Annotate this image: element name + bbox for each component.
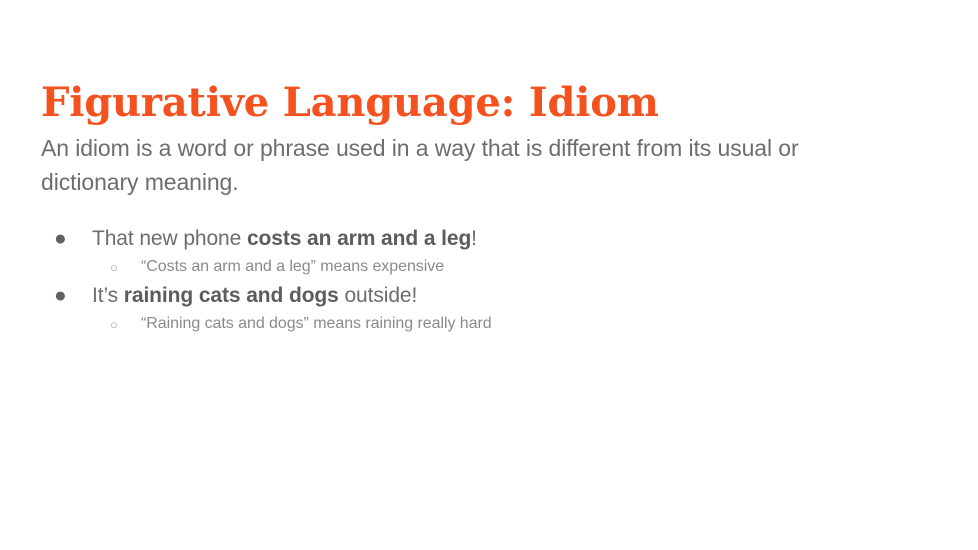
list-item: ● That new phone costs an arm and a leg!… bbox=[41, 223, 871, 280]
bullet-suffix: outside! bbox=[339, 284, 418, 307]
hollow-bullet-icon: ○ bbox=[110, 254, 118, 281]
filled-bullet-icon: ● bbox=[54, 280, 67, 311]
slide-canvas: Figurative Language: Idiom An idiom is a… bbox=[0, 0, 978, 550]
bullet-prefix: It’s bbox=[92, 284, 124, 307]
sub-bullet-list: ○ “Costs an arm and a leg” means expensi… bbox=[92, 254, 871, 280]
bullet-text: It’s raining cats and dogs outside! bbox=[92, 284, 417, 307]
bullet-prefix: That new phone bbox=[92, 227, 247, 250]
filled-bullet-icon: ● bbox=[54, 223, 67, 254]
sub-bullet-text: “Costs an arm and a leg” means expensive bbox=[141, 258, 444, 275]
page-title: Figurative Language: Idiom bbox=[41, 79, 659, 127]
lead-paragraph: An idiom is a word or phrase used in a w… bbox=[41, 131, 871, 199]
sub-list-item: ○ “Raining cats and dogs” means raining … bbox=[92, 311, 871, 337]
bullet-list: ● That new phone costs an arm and a leg!… bbox=[41, 223, 871, 337]
idiom-phrase: costs an arm and a leg bbox=[247, 227, 471, 250]
bullet-suffix: ! bbox=[471, 227, 477, 250]
hollow-bullet-icon: ○ bbox=[110, 311, 118, 338]
sub-bullet-list: ○ “Raining cats and dogs” means raining … bbox=[92, 311, 871, 337]
idiom-phrase: raining cats and dogs bbox=[124, 284, 339, 307]
sub-list-item: ○ “Costs an arm and a leg” means expensi… bbox=[92, 254, 871, 280]
sub-bullet-text: “Raining cats and dogs” means raining re… bbox=[141, 315, 492, 332]
list-item: ● It’s raining cats and dogs outside! ○ … bbox=[41, 280, 871, 337]
bullet-text: That new phone costs an arm and a leg! bbox=[92, 227, 477, 250]
slide-body: An idiom is a word or phrase used in a w… bbox=[41, 131, 871, 337]
